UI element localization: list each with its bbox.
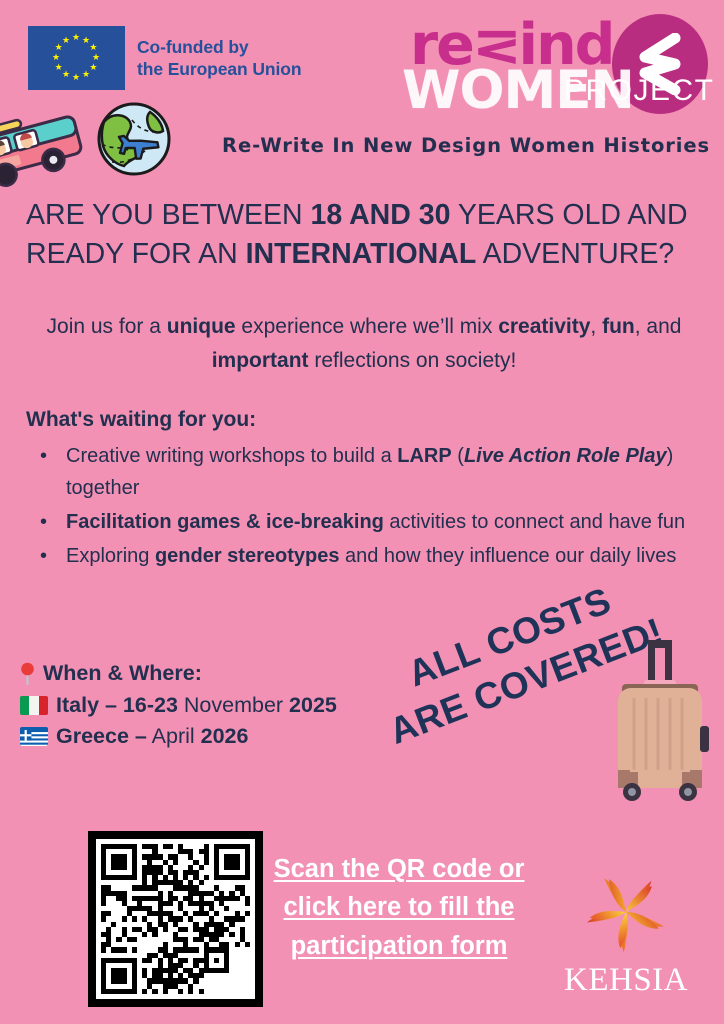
list-item-text: and how they influence our daily lives — [339, 545, 676, 567]
intro-b1: unique — [167, 315, 236, 338]
when-and-where-heading-row: When & Where: — [20, 658, 337, 690]
globe-airplane-icon — [88, 100, 180, 178]
headline-part1: ARE YOU BETWEEN — [26, 199, 311, 231]
intro-b3: fun — [602, 315, 635, 338]
greece-country: Greece – — [56, 724, 147, 748]
kehsia-name: KEHSIA — [555, 962, 697, 999]
intro-p2: experience where we’ll mix — [236, 315, 499, 338]
intro-p3: , — [590, 315, 602, 338]
location-pin-icon — [20, 662, 35, 686]
intro-p5: reflections on society! — [309, 349, 517, 372]
qr-code-image[interactable] — [88, 831, 263, 1007]
bullet-dot-icon: • — [40, 440, 47, 472]
kehsia-logo: KEHSIA — [555, 868, 697, 999]
list-item-text: LARP — [397, 445, 451, 467]
list-item-text: activities to connect and have fun — [384, 511, 685, 533]
headline-bold-international: INTERNATIONAL — [246, 238, 477, 270]
greece-flag-icon — [20, 727, 48, 746]
greece-row-text: Greece – April 2026 — [56, 721, 248, 753]
headline-part3: ADVENTURE? — [476, 238, 674, 270]
list-item: • Creative writing workshops to build a … — [26, 440, 714, 504]
when-and-where-row-italy: Italy – 16-23 November 2025 — [20, 690, 337, 722]
bullet-dot-icon: • — [40, 540, 47, 572]
eu-funding-text: Co-funded by the European Union — [137, 36, 301, 81]
camper-van-icon — [0, 104, 84, 194]
italy-month: November — [178, 693, 289, 717]
eu-flag-icon: ★★★★★★★★★★★★ — [28, 26, 125, 90]
list-item-text: Facilitation games & ice-breaking — [66, 511, 384, 533]
list-item-text: gender stereotypes — [155, 545, 340, 567]
headline-bold-age: 18 AND 30 — [311, 199, 451, 231]
suitcase-icon — [604, 632, 716, 802]
when-and-where-row-greece: Greece – April 2026 — [20, 721, 337, 753]
intro-paragraph: Join us for a unique experience where we… — [22, 310, 706, 378]
greece-month: April — [147, 724, 201, 748]
list-item: • Facilitation games & ice-breaking acti… — [26, 506, 714, 538]
when-and-where-block: When & Where: Italy – 16-23 November 202… — [20, 658, 337, 753]
italy-row-text: Italy – 16-23 November 2025 — [56, 690, 337, 722]
intro-b2: creativity — [498, 315, 590, 338]
participation-form-link[interactable]: Scan the QR code or click here to fill t… — [270, 850, 528, 965]
eu-funding-block: ★★★★★★★★★★★★ Co-funded by the European U… — [28, 26, 301, 90]
list-item-text: ( — [452, 445, 464, 467]
italy-year: 2025 — [289, 693, 337, 717]
list-item-text: Exploring — [66, 545, 155, 567]
list-item-text: Live Action Role Play — [464, 445, 667, 467]
eu-funding-line2: the European Union — [137, 58, 301, 80]
greece-year: 2026 — [201, 724, 249, 748]
intro-b4: important — [212, 349, 309, 372]
page-title: ARE YOU BETWEEN 18 AND 30 YEARS OLD AND … — [26, 196, 706, 275]
eu-funding-line1: Co-funded by — [137, 36, 301, 58]
list-item: • Exploring gender stereotypes and how t… — [26, 540, 714, 572]
list-item-text: Creative writing workshops to build a — [66, 445, 397, 467]
whats-waiting-heading: What's waiting for you: — [26, 408, 256, 432]
kehsia-starfish-icon — [555, 868, 697, 960]
when-and-where-title: When & Where: — [43, 658, 202, 690]
italy-flag-icon — [20, 696, 48, 715]
whats-waiting-list: • Creative writing workshops to build a … — [26, 440, 714, 574]
rewind-project-logo: re⋜ind WOMEN PROJECT — [402, 8, 712, 120]
bullet-dot-icon: • — [40, 506, 47, 538]
logo-project-word: PROJECT — [564, 74, 715, 108]
intro-p4: , and — [635, 315, 682, 338]
italy-country-dates: Italy – 16-23 — [56, 693, 178, 717]
intro-p1: Join us for a — [47, 315, 167, 338]
